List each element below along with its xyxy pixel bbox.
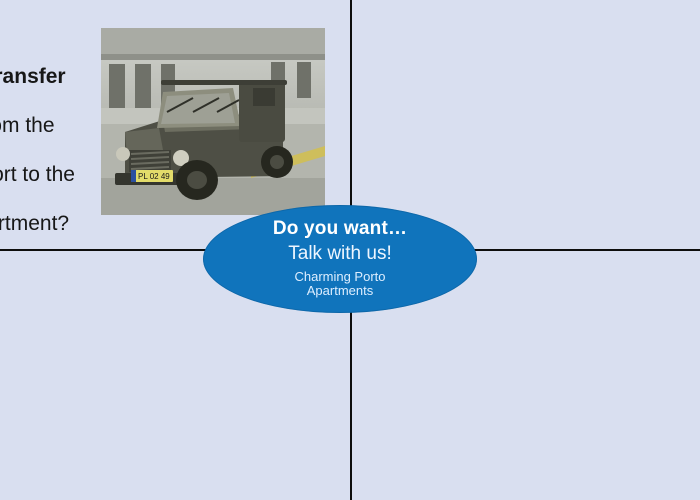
photo-airport-transfer-jeep: PL 02 49	[101, 28, 325, 215]
caption-transfer-line2: from the	[0, 114, 106, 139]
callout-headline: Do you want…	[273, 219, 407, 239]
caption-transfer-line1: …transfer	[0, 65, 106, 90]
promo-slide: PL 02 49 …transfer from the airport to t…	[0, 0, 700, 500]
center-callout-ellipse[interactable]: Do you want… Talk with us! Charming Port…	[203, 205, 477, 313]
caption-transfer: …transfer from the airport to the apartm…	[0, 40, 106, 261]
callout-brand-line2: Apartments	[294, 284, 385, 299]
caption-transfer-line3: airport to the	[0, 163, 106, 188]
caption-transfer-line4: apartment?	[0, 212, 106, 237]
callout-brand: Charming Porto Apartments	[294, 270, 385, 299]
callout-subhead: Talk with us!	[288, 242, 391, 266]
svg-text:PL 02 49: PL 02 49	[138, 172, 170, 181]
callout-brand-line1: Charming Porto	[294, 270, 385, 285]
